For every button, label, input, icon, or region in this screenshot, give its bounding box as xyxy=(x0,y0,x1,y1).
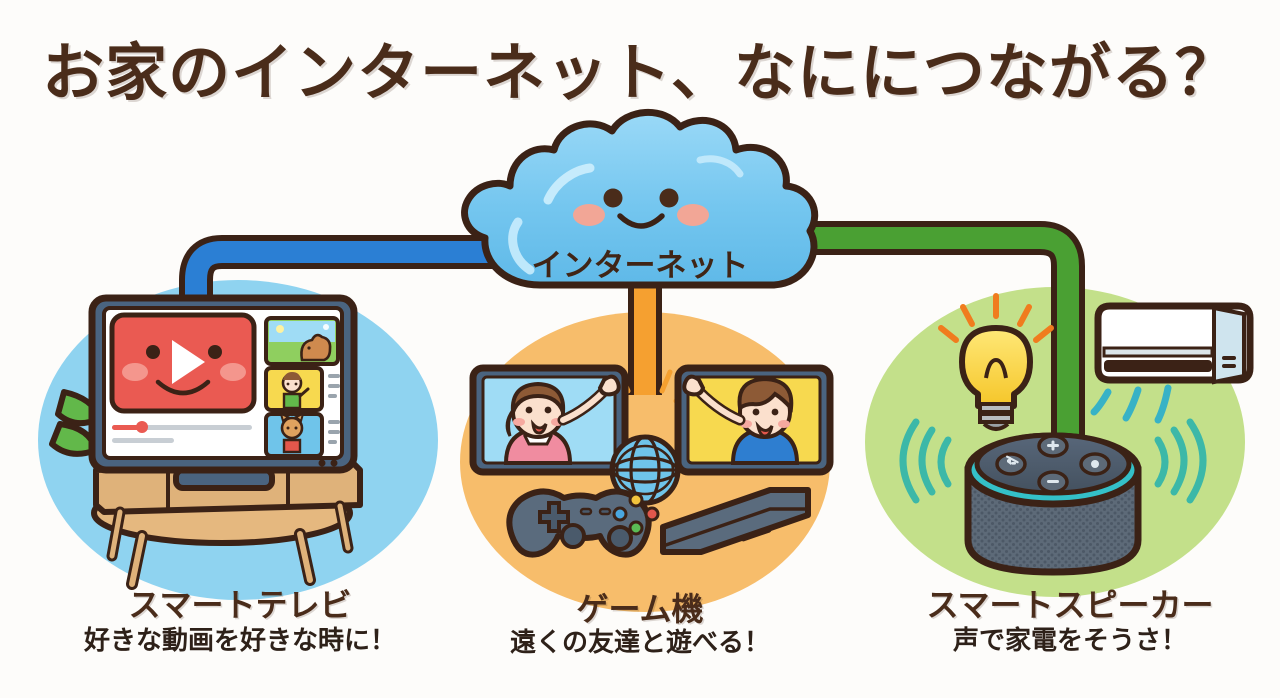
play-button-icon[interactable] xyxy=(112,315,254,411)
cloud-cheek-left xyxy=(573,204,605,226)
thumbnail-dog[interactable] xyxy=(266,318,338,364)
smart-speaker-icon[interactable] xyxy=(968,435,1138,572)
cloud-eye-left xyxy=(604,189,623,208)
infographic-canvas: お家のインターネット、なににつながる？ インターネット スマートテレビ 好きな動… xyxy=(0,0,1280,698)
internet-cloud-label: インターネット xyxy=(440,240,840,285)
thumbnail-boy[interactable] xyxy=(266,368,322,410)
page-title: お家のインターネット、なににつながる？ xyxy=(0,22,1280,112)
tv-icon[interactable] xyxy=(92,298,354,470)
panel-subtitle-smart-tv: 好きな動画を好きな時に！ xyxy=(20,620,460,657)
cloud-cheek-right xyxy=(677,204,709,226)
cloud-eye-right xyxy=(660,189,679,208)
thumbnail-cat[interactable] xyxy=(266,414,322,456)
panel-subtitle-game-console: 遠くの友達と遊べる！ xyxy=(430,622,850,659)
air-conditioner-icon[interactable] xyxy=(1098,306,1250,382)
panel-subtitle-smart-speaker: 声で家電をそうさ！ xyxy=(850,620,1280,657)
